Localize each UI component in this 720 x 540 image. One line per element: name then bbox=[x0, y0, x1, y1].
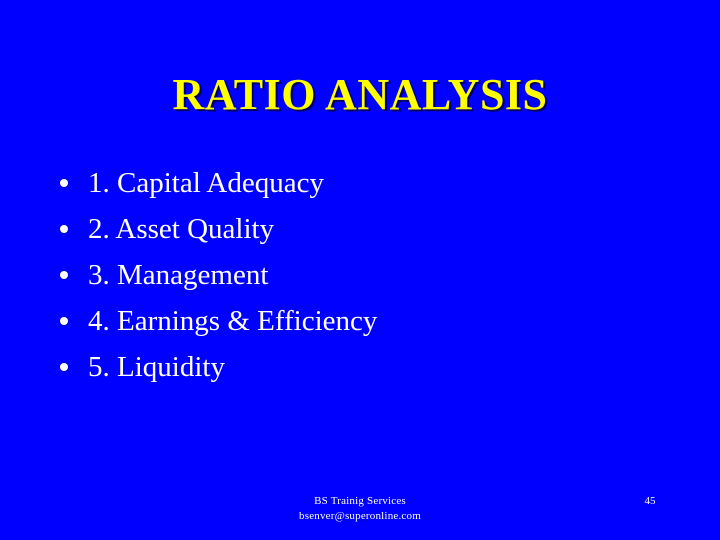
list-item-label: 2. Asset Quality bbox=[88, 206, 274, 252]
bullet-dot-icon bbox=[60, 271, 68, 279]
slide-canvas: RATIO ANALYSIS 1. Capital Adequacy 2. As… bbox=[0, 0, 720, 540]
list-item: 4. Earnings & Efficiency bbox=[52, 298, 672, 344]
footer-email: bsenver@superonline.com bbox=[0, 509, 720, 524]
list-item: 1. Capital Adequacy bbox=[52, 160, 672, 206]
bullet-dot-icon bbox=[60, 179, 68, 187]
list-item-label: 4. Earnings & Efficiency bbox=[88, 298, 377, 344]
bullet-list: 1. Capital Adequacy 2. Asset Quality 3. … bbox=[52, 160, 672, 390]
list-item: 2. Asset Quality bbox=[52, 206, 672, 252]
list-item: 3. Management bbox=[52, 252, 672, 298]
bullet-dot-icon bbox=[60, 317, 68, 325]
list-item: 5. Liquidity bbox=[52, 344, 672, 390]
page-number: 45 bbox=[600, 494, 700, 509]
bullet-dot-icon bbox=[60, 225, 68, 233]
page-title: RATIO ANALYSIS bbox=[0, 72, 720, 118]
list-item-label: 5. Liquidity bbox=[88, 344, 225, 390]
list-item-label: 3. Management bbox=[88, 252, 268, 298]
list-item-label: 1. Capital Adequacy bbox=[88, 160, 324, 206]
bullet-dot-icon bbox=[60, 363, 68, 371]
